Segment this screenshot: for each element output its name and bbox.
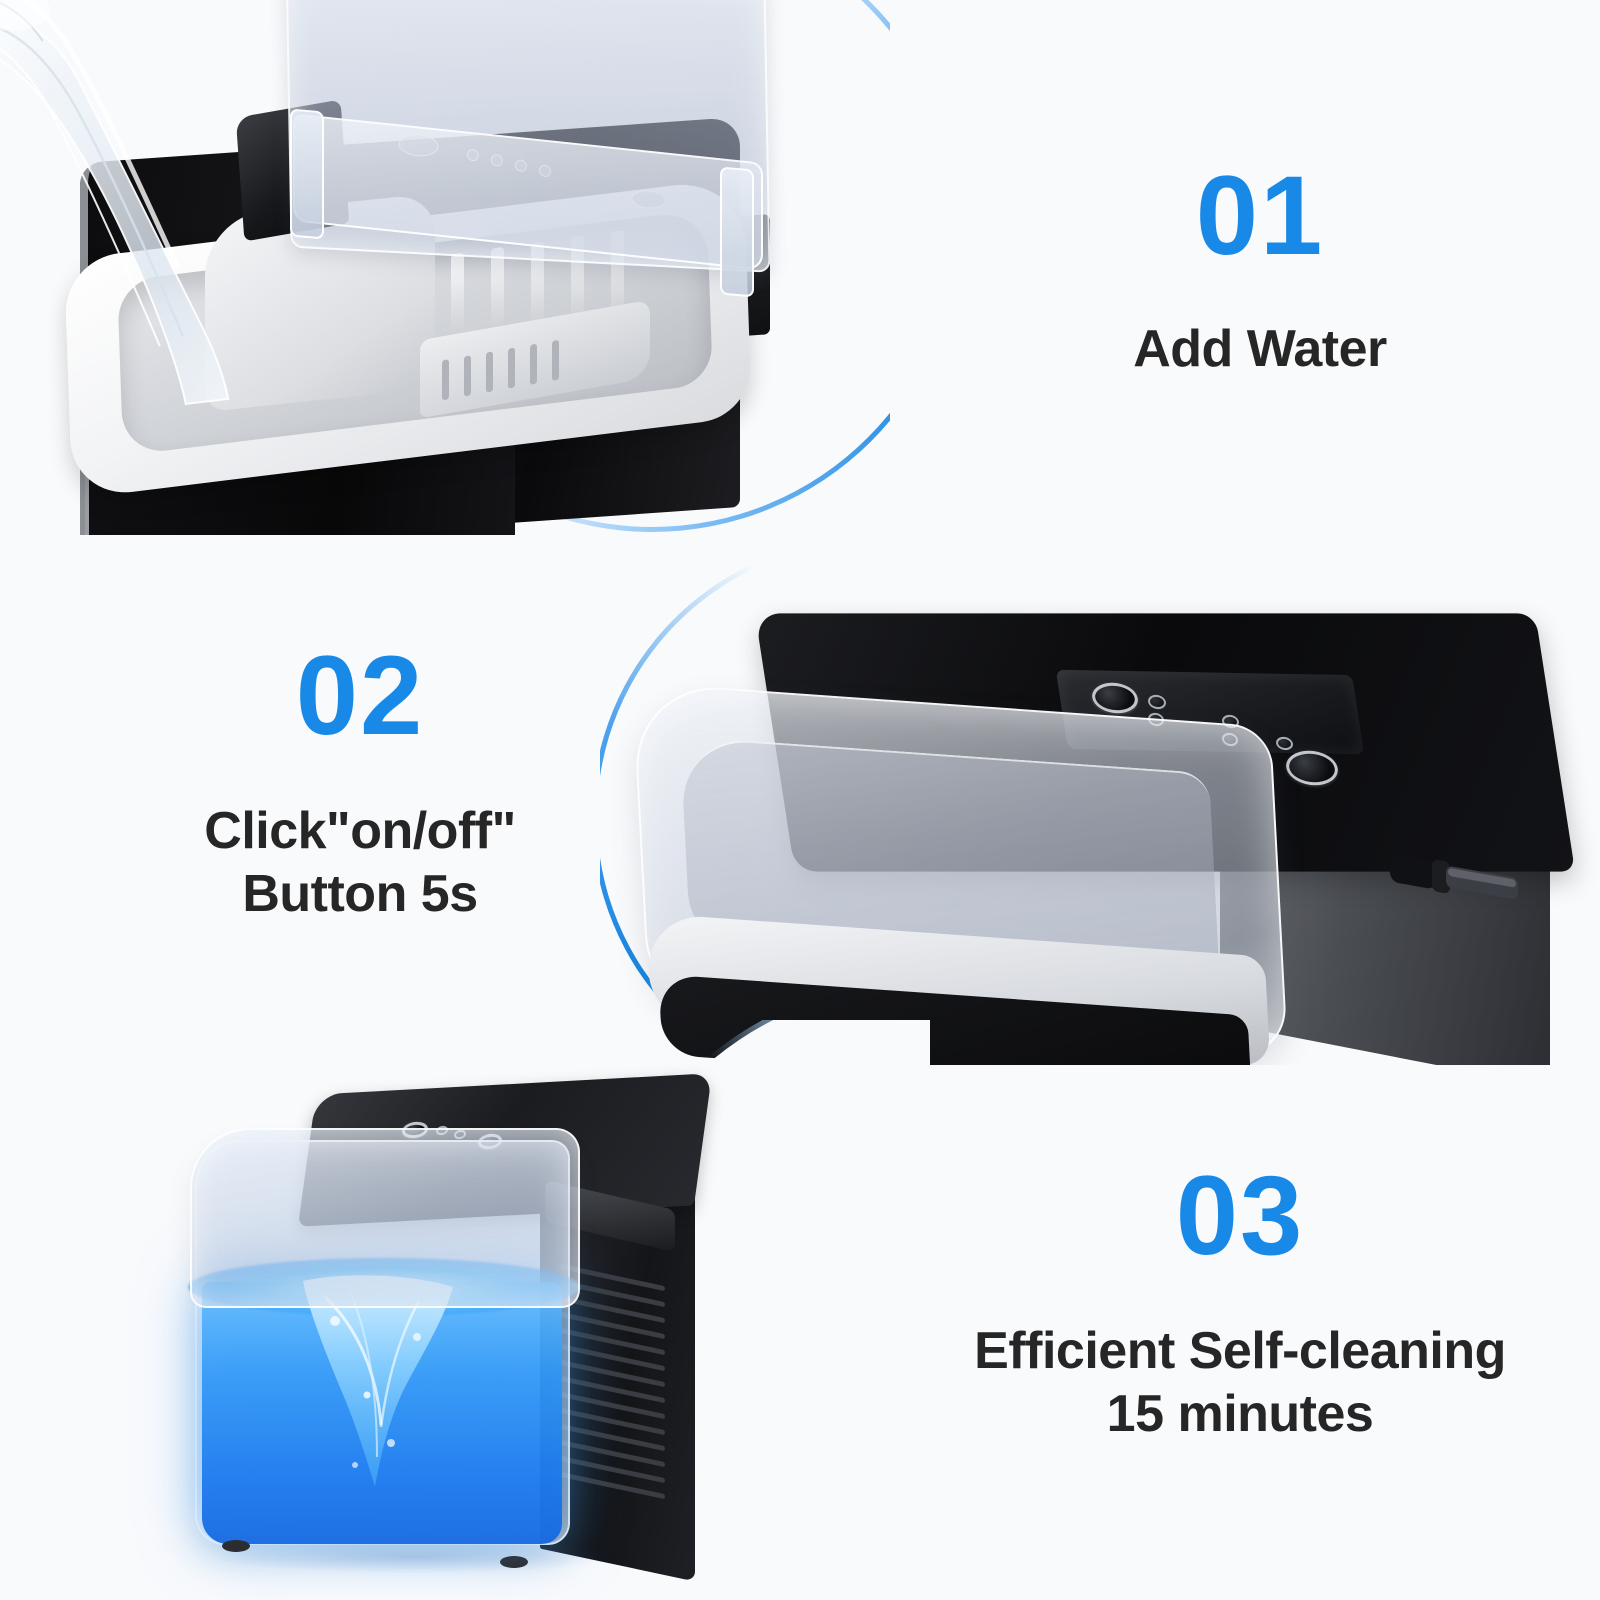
step-1-title: Add Water [1040,318,1480,381]
ice-maker-lid-tab-right [720,167,754,298]
hand-pressing-button [1180,555,1600,600]
step-2-number: 02 [60,640,660,752]
step-3-product-photo [130,1020,930,1600]
step-2-title: Click"on/off" Button 5s [60,800,660,927]
swirling-water-vortex [295,1275,460,1505]
ice-maker-ventilation-grille [560,1264,665,1516]
step-1-text-block: 01 Add Water [1040,160,1480,381]
pouring-water-stream [0,0,394,424]
ice-maker-floor-shadow [215,1540,615,1574]
step-1-number: 01 [1040,160,1480,272]
infographic-canvas: 01 Add Water [0,0,1600,1600]
step-1-product-photo [0,0,890,535]
step-3-number: 03 [920,1160,1560,1272]
step-2-text-block: 02 Click"on/off" Button 5s [60,640,660,927]
ice-maker-clear-lid [190,1128,580,1308]
step-3-title: Efficient Self-cleaning 15 minutes [920,1320,1560,1447]
step-2-product-photo [600,555,1600,1065]
step-3-text-block: 03 Efficient Self-cleaning 15 minutes [920,1160,1560,1447]
